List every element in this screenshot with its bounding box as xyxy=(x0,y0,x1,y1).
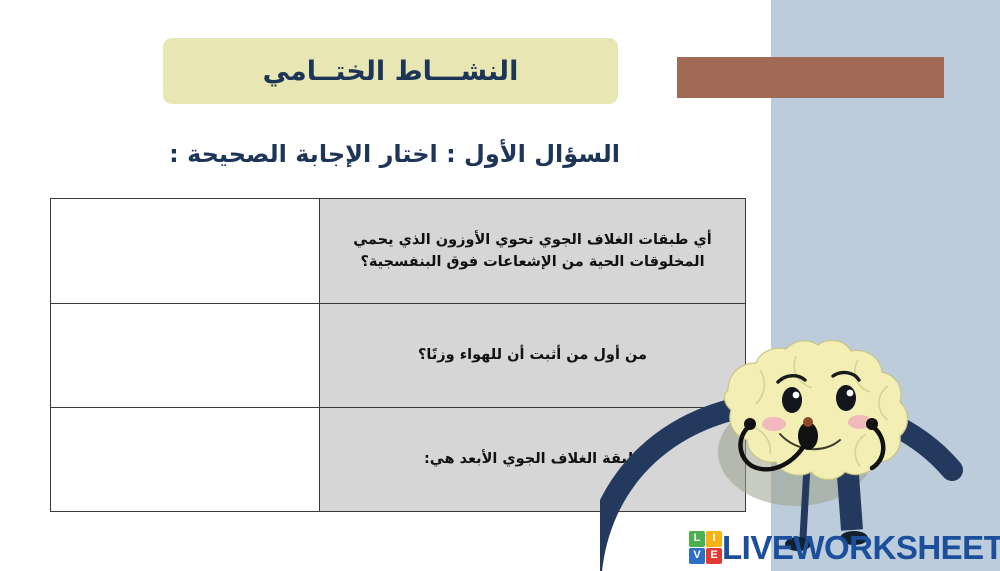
liveworksheets-logo: L I V E LIVEWORKSHEETS xyxy=(686,528,1000,566)
answer-cell[interactable] xyxy=(51,408,320,512)
logo-tile-i: I xyxy=(706,531,722,547)
worksheet-page: النشـــاط الختــامي السؤال الأول : اختار… xyxy=(0,0,1000,571)
question-cell: طبقة الغلاف الجوي الأبعد هي: xyxy=(320,408,746,512)
answer-cell[interactable] xyxy=(51,199,320,304)
brown-accent-bar xyxy=(677,57,944,98)
questions-table: أي طبقات الغلاف الجوي تحوي الأوزون الذي … xyxy=(50,198,746,512)
activity-title-chip: النشـــاط الختــامي xyxy=(163,38,618,104)
question-cell: من أول من أثبت أن للهواء وزنًا؟ xyxy=(320,304,746,408)
liveworksheets-tiles-icon: L I V E xyxy=(689,531,722,564)
answer-cell[interactable] xyxy=(51,304,320,408)
logo-tile-l: L xyxy=(689,531,705,547)
question-cell: أي طبقات الغلاف الجوي تحوي الأوزون الذي … xyxy=(320,199,746,304)
table-row: طبقة الغلاف الجوي الأبعد هي: xyxy=(51,408,746,512)
logo-tile-v: V xyxy=(689,548,705,564)
table-row: أي طبقات الغلاف الجوي تحوي الأوزون الذي … xyxy=(51,199,746,304)
page-title: النشـــاط الختــامي xyxy=(263,56,519,87)
table-row: من أول من أثبت أن للهواء وزنًا؟ xyxy=(51,304,746,408)
liveworksheets-wordmark: LIVEWORKSHEETS xyxy=(722,531,1000,564)
logo-tile-e: E xyxy=(706,548,722,564)
question-section-heading: السؤال الأول : اختار الإجابة الصحيحة : xyxy=(169,140,620,168)
